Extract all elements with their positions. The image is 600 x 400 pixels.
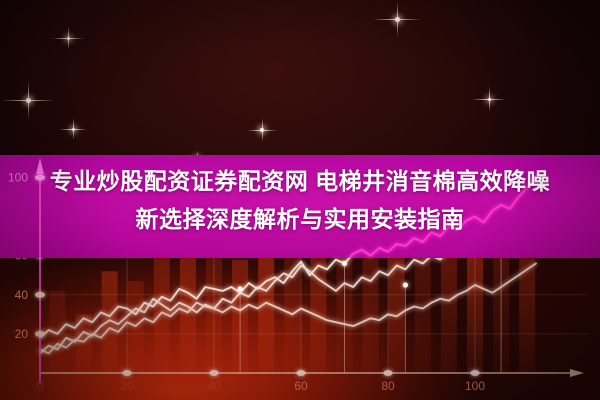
x-tick-dot — [123, 370, 132, 376]
x-tick-dot — [210, 370, 219, 376]
data-point-marker — [238, 286, 243, 291]
data-point-marker — [403, 282, 408, 287]
y-tick-label: 40 — [15, 288, 29, 302]
banner-image: 20406080100204060801000 100 专业炒股配资证券配资网 … — [0, 0, 600, 400]
title-line-1: 专业炒股配资证券配资网 电梯井消音棉高效降噪 — [0, 162, 600, 200]
x-tick-label: 100 — [465, 379, 485, 393]
x-tick-label: 80 — [381, 379, 395, 393]
title-line-2: 新选择深度解析与实用安装指南 — [0, 200, 600, 238]
x-tick-dot — [384, 370, 393, 376]
chart-bar — [76, 314, 92, 373]
x-tick-dot — [297, 370, 306, 376]
chart-bar — [415, 246, 431, 373]
page-title: 专业炒股配资证券配资网 电梯井消音棉高效降噪 新选择深度解析与实用安装指南 — [0, 162, 600, 238]
y-tick-dot — [35, 331, 45, 337]
data-point-marker — [342, 261, 347, 266]
x-tick-label: 0 — [37, 379, 44, 393]
x-axis-arrow-icon — [570, 369, 584, 377]
x-tick-label: 20 — [120, 379, 134, 393]
x-tick-label: 40 — [207, 379, 221, 393]
x-tick-label: 60 — [294, 379, 308, 393]
y-tick-label: 20 — [15, 327, 29, 341]
y-tick-dot — [35, 292, 45, 298]
x-tick-dot — [471, 370, 480, 376]
